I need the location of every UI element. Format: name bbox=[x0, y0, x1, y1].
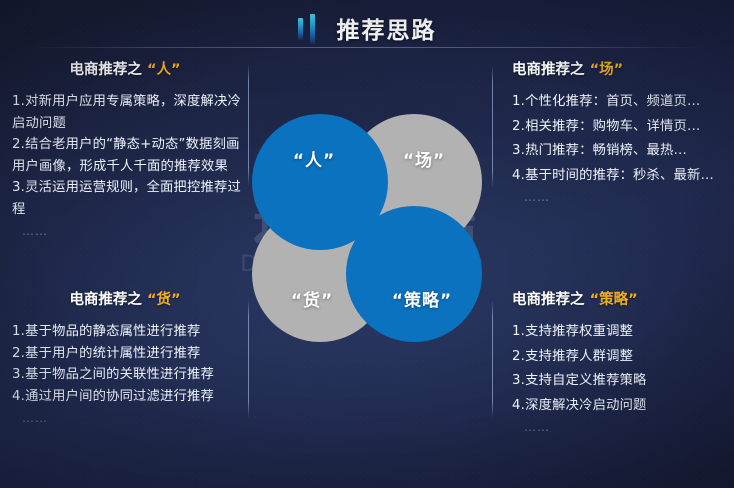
page-title: 推荐思路 bbox=[337, 11, 437, 45]
block-ren: 电商推荐之 “人” 1.对新用户应用专属策略，深度解决冷启动问题 2.结合老用户… bbox=[12, 58, 248, 238]
block-celue-title-prefix: 电商推荐之 bbox=[512, 292, 585, 308]
list-item: 3.基于物品之间的关联性进行推荐 bbox=[12, 364, 248, 386]
list-item: 4.深度解决冷启动问题 bbox=[498, 395, 734, 417]
block-huo-title-accent: “货” bbox=[147, 292, 181, 308]
block-huo-title-prefix: 电商推荐之 bbox=[69, 292, 142, 308]
block-chang-title-prefix: 电商推荐之 bbox=[512, 62, 585, 78]
block-huo-list: 1.基于物品的静态属性进行推荐 2.基于用户的统计属性进行推荐 3.基于物品之间… bbox=[12, 321, 248, 407]
list-item: 2.相关推荐：购物车、详情页… bbox=[498, 116, 734, 138]
list-item: 1.个性化推荐：首页、频道页… bbox=[498, 91, 734, 113]
list-item: 4.基于时间的推荐：秒杀、最新… bbox=[498, 165, 734, 187]
list-item: 4.通过用户间的协同过滤进行推荐 bbox=[12, 386, 248, 408]
venn-label-celue: “策略” bbox=[392, 286, 452, 311]
block-celue: 电商推荐之 “策略” 1.支持推荐权重调整 2.支持推荐人群调整 3.支持自定义… bbox=[498, 288, 734, 434]
block-ren-title-accent: “人” bbox=[147, 62, 181, 78]
block-chang-title-accent: “场” bbox=[590, 62, 624, 78]
block-ren-title-prefix: 电商推荐之 bbox=[69, 62, 142, 78]
title-accent-bars-icon bbox=[298, 14, 315, 44]
block-chang-title: 电商推荐之 “场” bbox=[498, 58, 734, 79]
list-item: 3.支持自定义推荐策略 bbox=[498, 370, 734, 392]
divider-right-top bbox=[492, 66, 493, 188]
list-item: 2.支持推荐人群调整 bbox=[498, 346, 734, 368]
list-item: 1.基于物品的静态属性进行推荐 bbox=[12, 321, 248, 343]
list-item: 3.灵活运用运营规则，全面把控推荐过程 bbox=[12, 177, 248, 220]
venn-label-huo: “货” bbox=[291, 286, 333, 311]
block-huo-title: 电商推荐之 “货” bbox=[12, 288, 248, 309]
slide-root: 推荐思路 达观数据 DATA GRAND “人” “场” “货” “策略” 电商… bbox=[0, 0, 734, 488]
venn-label-chang: “场” bbox=[403, 146, 445, 171]
title-bar-1-icon bbox=[298, 18, 303, 40]
divider-right-bottom bbox=[492, 300, 493, 418]
list-item: 1.支持推荐权重调整 bbox=[498, 321, 734, 343]
block-celue-more: …… bbox=[498, 420, 734, 434]
block-celue-list: 1.支持推荐权重调整 2.支持推荐人群调整 3.支持自定义推荐策略 4.深度解决… bbox=[498, 321, 734, 416]
block-chang-list: 1.个性化推荐：首页、频道页… 2.相关推荐：购物车、详情页… 3.热门推荐：畅… bbox=[498, 91, 734, 186]
venn-label-ren: “人” bbox=[293, 146, 335, 171]
block-huo: 电商推荐之 “货” 1.基于物品的静态属性进行推荐 2.基于用户的统计属性进行推… bbox=[12, 288, 248, 425]
list-item: 2.基于用户的统计属性进行推荐 bbox=[12, 343, 248, 365]
header-divider bbox=[30, 47, 704, 48]
list-item: 3.热门推荐：畅销榜、最热… bbox=[498, 140, 734, 162]
block-huo-more: …… bbox=[12, 411, 248, 425]
list-item: 1.对新用户应用专属策略，深度解决冷启动问题 bbox=[12, 91, 248, 134]
venn-diagram: “人” “场” “货” “策略” bbox=[252, 114, 482, 342]
block-celue-title: 电商推荐之 “策略” bbox=[498, 288, 734, 309]
divider-left-bottom bbox=[248, 300, 249, 418]
slide-header: 推荐思路 bbox=[0, 8, 734, 48]
title-bar-2-icon bbox=[310, 14, 315, 44]
block-chang-more: …… bbox=[498, 190, 734, 204]
block-ren-more: …… bbox=[12, 224, 248, 238]
divider-left-top bbox=[248, 64, 249, 186]
block-ren-list: 1.对新用户应用专属策略，深度解决冷启动问题 2.结合老用户的“静态+动态”数据… bbox=[12, 91, 248, 220]
list-item: 2.结合老用户的“静态+动态”数据刻画用户画像，形成千人千面的推荐效果 bbox=[12, 134, 248, 177]
block-ren-title: 电商推荐之 “人” bbox=[12, 58, 248, 79]
venn-circle-celue: “策略” bbox=[346, 206, 482, 342]
block-celue-title-accent: “策略” bbox=[590, 292, 638, 308]
block-chang: 电商推荐之 “场” 1.个性化推荐：首页、频道页… 2.相关推荐：购物车、详情页… bbox=[498, 58, 734, 204]
